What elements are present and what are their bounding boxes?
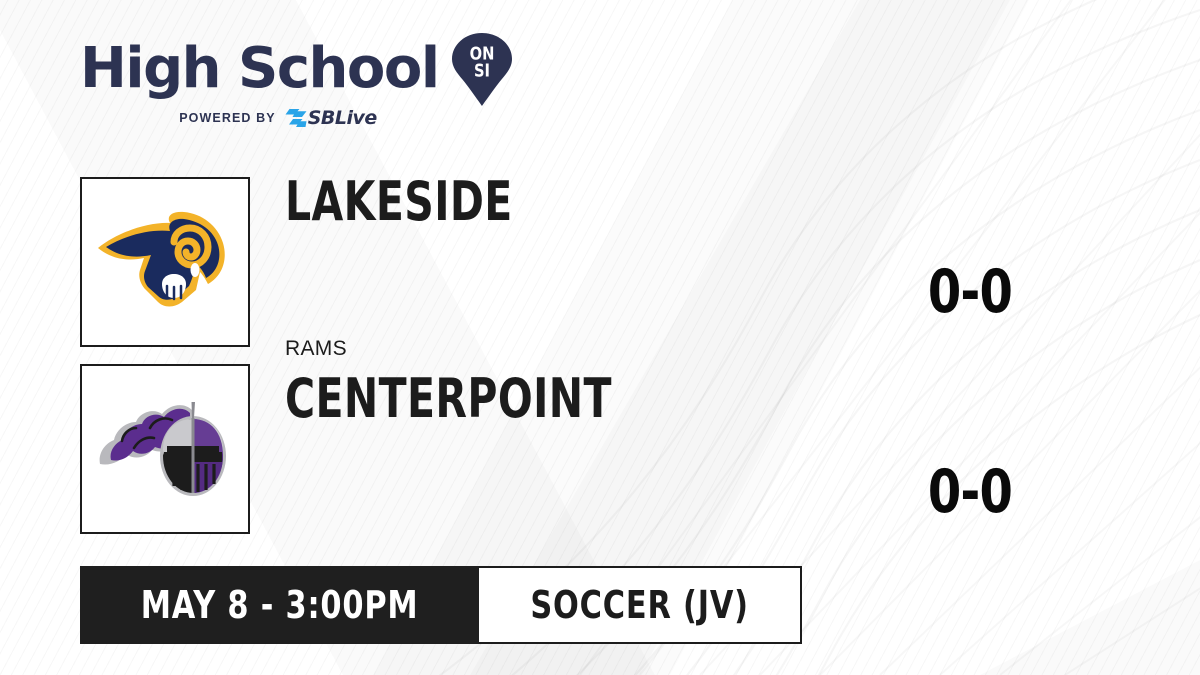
brand-wordmark-row: High School ON SI xyxy=(80,36,510,102)
away-team-mascot: RAMS xyxy=(285,338,347,359)
onsi-pin-icon: ON SI xyxy=(451,32,513,106)
away-team-name: LAKESIDE xyxy=(285,175,513,229)
page-title: High School xyxy=(80,41,439,97)
game-info-bar: MAY 8 - 3:00PM SOCCER (JV) xyxy=(80,566,802,644)
powered-by-label: POWERED BY xyxy=(179,111,275,125)
brand-header: High School ON SI POWERED BY SBLive xyxy=(80,36,510,136)
game-sport-label: SOCCER (JV) xyxy=(531,586,750,624)
home-team-logo-box xyxy=(80,364,250,534)
game-sport-chip: SOCCER (JV) xyxy=(479,566,802,644)
game-datetime-chip: MAY 8 - 3:00PM xyxy=(80,566,479,644)
sblive-logo: SBLive xyxy=(285,108,377,128)
knight-helmet-logo-icon xyxy=(96,394,234,504)
game-datetime-label: MAY 8 - 3:00PM xyxy=(141,586,419,624)
home-team-record: 0-0 xyxy=(906,462,1034,522)
matchup-graphic: High School ON SI POWERED BY SBLive xyxy=(0,0,1200,675)
away-team-logo-box xyxy=(80,177,250,347)
away-team-record: 0-0 xyxy=(906,262,1034,322)
home-team-name: CENTERPOINT xyxy=(285,372,612,426)
onsi-pin-line2: SI xyxy=(474,60,490,81)
sblive-bolt-icon xyxy=(285,108,307,128)
powered-by-row: POWERED BY SBLive xyxy=(80,108,476,128)
rams-head-logo-icon xyxy=(96,210,234,314)
sblive-label: SBLive xyxy=(308,109,377,128)
